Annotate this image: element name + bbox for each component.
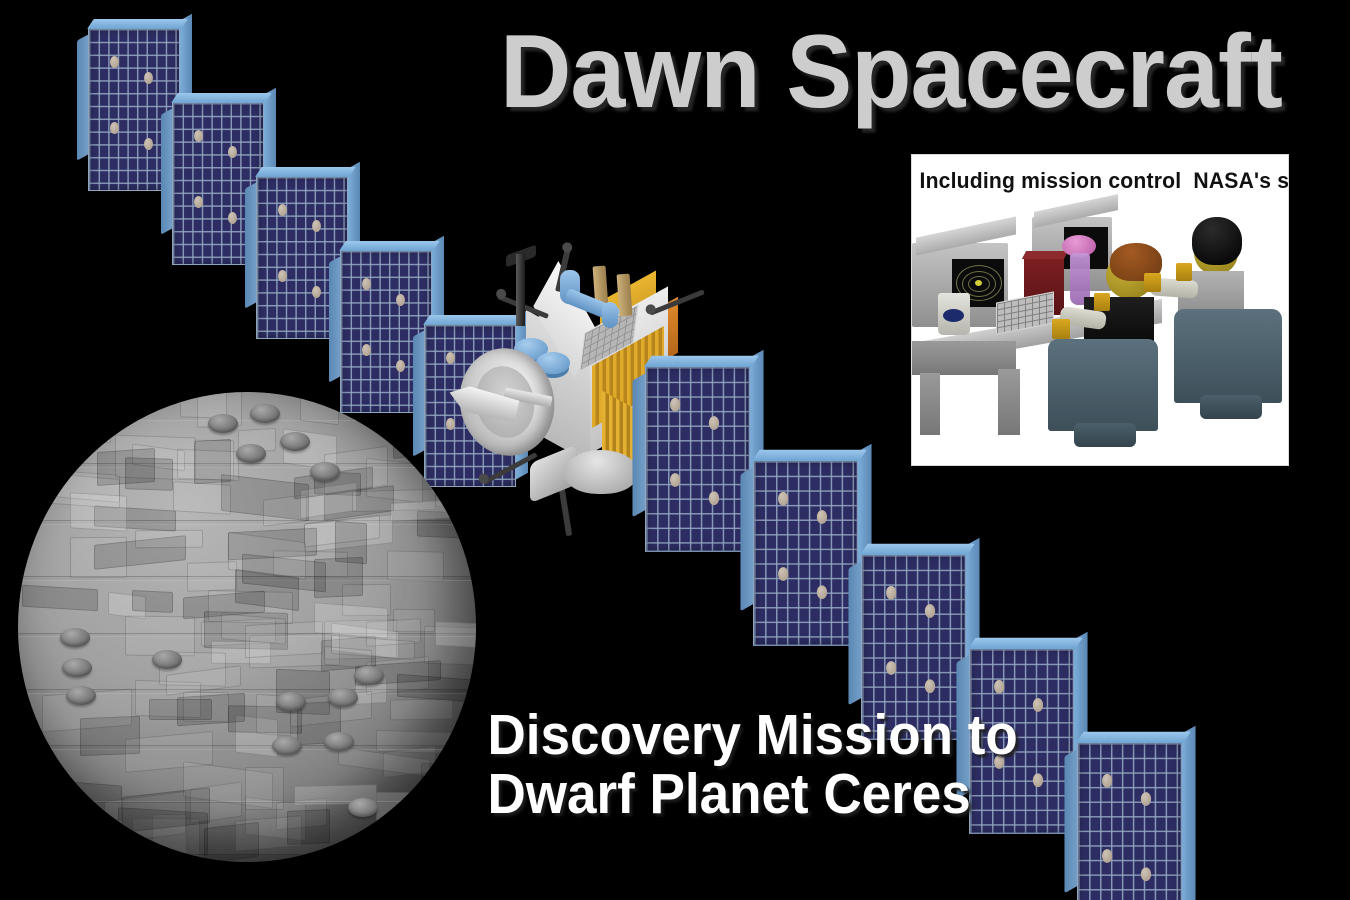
ceres-brick bbox=[314, 602, 388, 639]
ceres-brick-stud bbox=[152, 650, 182, 669]
office-chair-right-base bbox=[1200, 395, 1262, 419]
panel-stud bbox=[709, 491, 719, 505]
subtitle-line-2: Dwarf Planet Ceres bbox=[488, 765, 953, 824]
ceres-brick-stud bbox=[310, 462, 340, 481]
scientist-left-mug-2 bbox=[1094, 293, 1110, 311]
panel-side-edge bbox=[1181, 726, 1196, 900]
panel-stud bbox=[194, 196, 203, 208]
ceres-sphere-surface bbox=[18, 392, 476, 862]
panel-stud bbox=[228, 212, 237, 224]
panel-stud bbox=[709, 416, 719, 430]
panel-stud bbox=[110, 56, 119, 68]
panel-stud bbox=[994, 680, 1004, 694]
ceres-brick bbox=[424, 774, 476, 793]
panel-stud bbox=[1102, 774, 1112, 788]
panel-top-frame bbox=[171, 93, 272, 103]
solar-panel bbox=[1077, 742, 1182, 900]
office-chair-left-base bbox=[1074, 423, 1136, 447]
panel-stud bbox=[396, 360, 405, 372]
ceres-brick bbox=[287, 809, 330, 845]
ceres-brick bbox=[135, 529, 203, 548]
panel-stud bbox=[670, 398, 680, 412]
magnetometer-boom bbox=[516, 254, 525, 326]
panel-top-frame bbox=[339, 241, 440, 251]
panel-top-frame bbox=[255, 167, 356, 177]
panel-stud bbox=[278, 270, 287, 282]
scientist-right-hair bbox=[1192, 217, 1242, 265]
ceres-brick-stud bbox=[62, 658, 92, 677]
panel-top-frame bbox=[87, 19, 188, 29]
ceres-brick bbox=[300, 394, 339, 425]
panel-stud bbox=[886, 661, 896, 675]
panel-stud bbox=[1102, 849, 1112, 863]
ceres-brick bbox=[314, 557, 363, 598]
ceres-dwarf-planet-model bbox=[18, 392, 476, 862]
ceres-brick-stud bbox=[60, 628, 90, 647]
blue-pipe-nozzle bbox=[602, 302, 618, 328]
subtitle-line-1: Discovery Mission to bbox=[488, 706, 953, 765]
panel-stud bbox=[312, 220, 321, 232]
panel-stud bbox=[817, 585, 827, 599]
filing-cabinet-top bbox=[1022, 251, 1068, 259]
ceres-brick bbox=[390, 698, 453, 720]
panel-stud bbox=[1141, 867, 1151, 881]
ceres-brick bbox=[173, 481, 231, 515]
subtitle-caption: Discovery Mission to Dwarf Planet Ceres bbox=[488, 706, 953, 823]
ceres-brick bbox=[70, 492, 127, 531]
nasa-coffee-mug bbox=[938, 293, 970, 335]
mission-control-inset-photo: Including mission control NASA's scienti… bbox=[912, 155, 1288, 465]
panel-stud bbox=[144, 72, 153, 84]
ceres-brick-stud bbox=[280, 432, 310, 451]
solar-panel bbox=[753, 460, 858, 646]
panel-stud bbox=[1141, 792, 1151, 806]
ceres-brick-stud bbox=[208, 414, 238, 433]
page-title: Dawn Spacecraft bbox=[500, 18, 1282, 127]
panel-stud bbox=[1033, 698, 1043, 712]
panel-top-frame bbox=[860, 544, 975, 555]
panel-top-frame bbox=[968, 638, 1083, 649]
ceres-brick-stud bbox=[354, 666, 384, 685]
ceres-brick bbox=[63, 425, 111, 444]
panel-cell-grid bbox=[753, 460, 858, 646]
ceres-brick-stud bbox=[324, 732, 354, 751]
panel-stud bbox=[194, 130, 203, 142]
ceres-brick-stud bbox=[250, 404, 280, 423]
ceres-brick bbox=[245, 621, 323, 658]
panel-cell-grid bbox=[645, 366, 750, 552]
panel-stud bbox=[817, 510, 827, 524]
ceres-brick bbox=[400, 824, 440, 859]
desk-leg-right bbox=[998, 369, 1020, 435]
ceres-brick-stud bbox=[276, 692, 306, 711]
office-chair-left bbox=[1048, 339, 1158, 431]
panel-stud bbox=[110, 122, 119, 134]
desk-leg-left bbox=[920, 373, 940, 435]
panel-stud bbox=[778, 492, 788, 506]
ceres-brick-stud bbox=[66, 686, 96, 705]
ceres-brick bbox=[29, 794, 87, 815]
ceres-brick bbox=[118, 808, 208, 856]
panel-stud bbox=[670, 473, 680, 487]
panel-stud bbox=[278, 204, 287, 216]
ceres-brick bbox=[410, 805, 476, 828]
ceres-brick-stud bbox=[348, 798, 378, 817]
panel-stud bbox=[396, 294, 405, 306]
ceres-brick bbox=[376, 730, 457, 754]
ceres-brick-stud bbox=[328, 688, 358, 707]
panel-stud bbox=[886, 586, 896, 600]
panel-stud bbox=[144, 138, 153, 150]
panel-stud bbox=[362, 344, 371, 356]
scientist-right-mug-2 bbox=[1176, 263, 1192, 281]
panel-cell-grid bbox=[1077, 742, 1182, 900]
ceres-brick bbox=[97, 448, 155, 486]
panel-top-frame bbox=[644, 356, 759, 367]
ceres-brick bbox=[245, 767, 284, 810]
solar-panel bbox=[645, 366, 750, 552]
scientist-right-mug bbox=[1144, 273, 1161, 292]
orbit-sun-icon bbox=[975, 280, 982, 286]
panel-stud bbox=[925, 679, 935, 693]
panel-top-frame bbox=[1076, 732, 1191, 743]
panel-stud bbox=[312, 286, 321, 298]
poster-canvas: Dawn Spacecraft Discovery Mission to Dwa… bbox=[0, 0, 1350, 900]
ceres-brick bbox=[22, 585, 98, 611]
scientist-left-mug bbox=[1052, 319, 1070, 339]
inset-caption: Including mission control NASA's scienti… bbox=[920, 168, 1281, 194]
ceres-brick bbox=[387, 551, 444, 583]
ceres-brick bbox=[390, 499, 457, 522]
ceres-brick-stud bbox=[272, 736, 302, 755]
bus-lower-cone bbox=[564, 450, 638, 494]
ceres-brick bbox=[132, 590, 173, 613]
ceres-brick-stud bbox=[236, 444, 266, 463]
panel-stud bbox=[925, 604, 935, 618]
panel-stud bbox=[778, 567, 788, 581]
inset-scene bbox=[912, 201, 1288, 465]
panel-stud bbox=[228, 146, 237, 158]
panel-stud bbox=[1033, 773, 1043, 787]
office-chair-right bbox=[1174, 309, 1282, 403]
panel-stud bbox=[362, 278, 371, 290]
panel-top-frame bbox=[752, 450, 867, 461]
ceres-brick bbox=[435, 621, 476, 650]
nasa-logo-icon bbox=[943, 309, 964, 322]
